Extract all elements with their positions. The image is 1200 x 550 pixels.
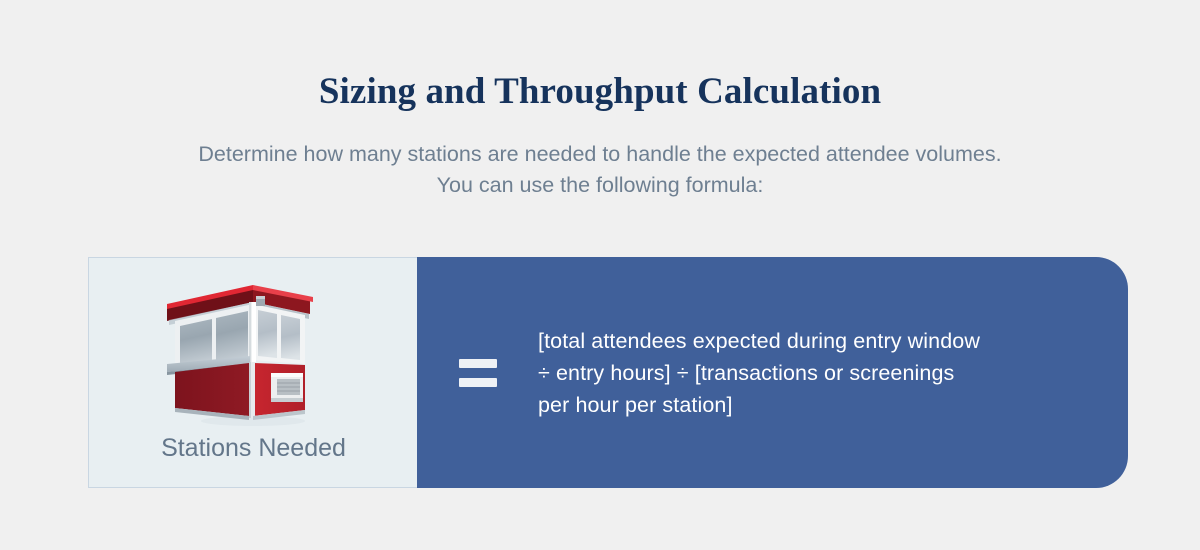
equals-bar-top (459, 359, 497, 368)
formula-line-3: per hour per station] (538, 389, 980, 421)
formula-panel: [total attendees expected during entry w… (417, 257, 1128, 488)
formula-text: [total attendees expected during entry w… (538, 325, 980, 421)
formula-line-2: ÷ entry hours] ÷ [transactions or screen… (538, 357, 980, 389)
guard-booth-illustration (153, 280, 353, 430)
page-subtitle: Determine how many stations are needed t… (180, 139, 1020, 201)
page-title: Sizing and Throughput Calculation (0, 72, 1200, 113)
formula-card: Stations Needed [total attendees expecte… (88, 257, 1128, 488)
stations-needed-label: Stations Needed (89, 434, 418, 463)
formula-line-1: [total attendees expected during entry w… (538, 325, 980, 357)
page-subtitle-line-1: Determine how many stations are needed t… (198, 142, 909, 166)
equals-bar-bottom (459, 378, 497, 387)
stations-panel: Stations Needed (88, 257, 417, 488)
equals-sign-icon (459, 359, 505, 387)
